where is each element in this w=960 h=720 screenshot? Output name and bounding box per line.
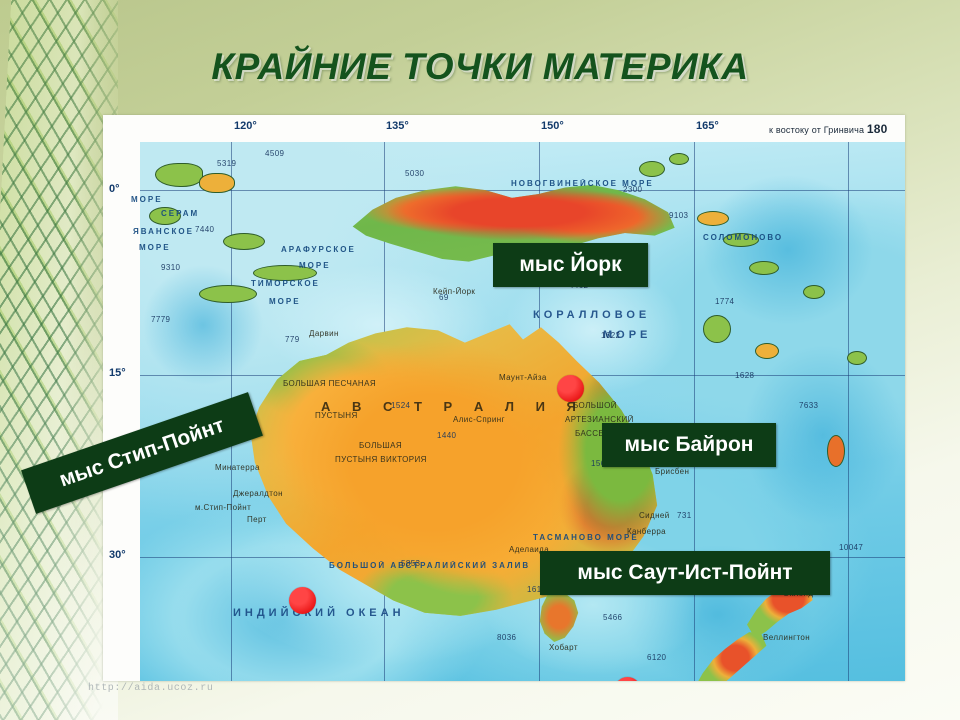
sea-label: КОРАЛЛОВОЕ bbox=[533, 309, 650, 321]
region-label: БОЛЬШОЙ bbox=[573, 401, 617, 410]
sea-label: МОРЕ bbox=[299, 261, 331, 270]
island bbox=[749, 261, 779, 275]
callout-cape-york[interactable]: мыс Йорк bbox=[493, 243, 648, 287]
depth-value: 7440 bbox=[195, 225, 214, 234]
latitude-label: 15° bbox=[109, 367, 126, 379]
sea-label: МОРЕ bbox=[131, 195, 163, 204]
elevation-value: 69 bbox=[439, 293, 449, 302]
elevation-value: 1524 bbox=[391, 401, 410, 410]
elevation-value: 2300 bbox=[623, 185, 642, 194]
callout-cape-south-east-point[interactable]: мыс Саут-Ист-Пойнт bbox=[540, 551, 830, 595]
sea-label: АРАФУРСКОЕ bbox=[281, 245, 356, 254]
source-watermark: http://aida.ucoz.ru bbox=[88, 683, 213, 694]
elevation-value: 5030 bbox=[405, 169, 424, 178]
city-label: Брисбен bbox=[655, 467, 689, 476]
continent-label: А В С Т Р А Л И Я bbox=[321, 399, 585, 414]
depth-value: 7633 bbox=[799, 401, 818, 410]
callout-cape-south-east-point-label: мыс Саут-Ист-Пойнт bbox=[577, 561, 792, 585]
sea-label: ТАСМАНОВО МОРЕ bbox=[533, 533, 639, 542]
depth-value: 5466 bbox=[603, 613, 622, 622]
latitude-label: 30° bbox=[109, 549, 126, 561]
city-label: Маунт-Айза bbox=[499, 373, 547, 382]
marker-cape-york[interactable] bbox=[557, 375, 584, 402]
island bbox=[703, 315, 731, 343]
sea-label: СОЛОМОНОВО bbox=[703, 233, 783, 242]
region-label: БОЛЬШАЯ ПЕСЧАНАЯ bbox=[283, 379, 376, 388]
map-canvas: 120° 135° 150° 165° к востоку от Гринвич… bbox=[103, 115, 905, 681]
city-label: Веллингтон bbox=[763, 633, 810, 642]
depth-value: 7779 bbox=[151, 315, 170, 324]
city-label: Сидней bbox=[639, 511, 670, 520]
decorative-left-border bbox=[0, 0, 118, 720]
cape-label: м.Стип-Пойнт bbox=[195, 503, 251, 512]
page-title: КРАЙНИЕ ТОЧКИ МАТЕРИКА bbox=[0, 46, 960, 88]
elevation-value: 4509 bbox=[265, 149, 284, 158]
sea-label: ЯВАНСКОЕ bbox=[133, 227, 194, 236]
city-label: Дарвин bbox=[309, 329, 339, 338]
island bbox=[755, 343, 779, 359]
sea-label: ИНДИЙСКИЙ ОКЕАН bbox=[233, 607, 405, 619]
parallel-line bbox=[140, 190, 905, 191]
region-label: ПУСТЫНЯ bbox=[315, 411, 358, 420]
region-label: ПУСТЫНЯ ВИКТОРИЯ bbox=[335, 455, 427, 464]
depth-value: 10047 bbox=[839, 543, 863, 552]
greenwich-note-text: к востоку от Гринвича bbox=[769, 125, 864, 135]
island bbox=[199, 173, 235, 193]
sea-label: БОЛЬШОЙ АВСТРАЛИЙСКИЙ ЗАЛИВ bbox=[329, 561, 530, 570]
elevation-value: 1440 bbox=[437, 431, 456, 440]
region-label: БОЛЬШАЯ bbox=[359, 441, 402, 450]
meridian-line bbox=[848, 142, 849, 681]
depth-value: 731 bbox=[677, 511, 692, 520]
island bbox=[847, 351, 867, 365]
city-label: Минатерра bbox=[215, 463, 260, 472]
city-label: Джералдтон bbox=[233, 489, 283, 498]
longitude-label: 120° bbox=[234, 120, 257, 132]
greenwich-note: к востоку от Гринвича 180 bbox=[769, 122, 888, 136]
longitude-label: 150° bbox=[541, 120, 564, 132]
longitude-label: 135° bbox=[386, 120, 409, 132]
elevation-value: 779 bbox=[285, 335, 300, 344]
physical-map-of-australia: 120° 135° 150° 165° к востоку от Гринвич… bbox=[103, 115, 905, 681]
island bbox=[223, 233, 265, 250]
sea-label: СЕРАМ bbox=[161, 209, 199, 218]
island bbox=[669, 153, 689, 165]
elevation-value: 1622 bbox=[601, 331, 620, 340]
depth-value: 6120 bbox=[647, 653, 666, 662]
lattice-pattern bbox=[0, 0, 118, 720]
island bbox=[827, 435, 845, 467]
callout-cape-byron-label: мыс Байрон bbox=[624, 433, 753, 457]
city-label: Хобарт bbox=[549, 643, 578, 652]
island bbox=[639, 161, 665, 177]
sea-label: МОРЕ bbox=[269, 297, 301, 306]
depth-value: 9103 bbox=[669, 211, 688, 220]
meridian-line bbox=[694, 142, 695, 681]
greenwich-note-value: 180 bbox=[867, 122, 888, 136]
marker-cape-steep-point[interactable] bbox=[289, 587, 316, 614]
elevation-value: 5319 bbox=[217, 159, 236, 168]
depth-value: 8036 bbox=[497, 633, 516, 642]
depth-value: 9310 bbox=[161, 263, 180, 272]
city-label: Перт bbox=[247, 515, 267, 524]
city-label: Канберра bbox=[627, 527, 666, 536]
longitude-label: 165° bbox=[696, 120, 719, 132]
depth-value: 1628 bbox=[735, 371, 754, 380]
city-label: Алис-Спринг bbox=[453, 415, 505, 424]
ocean-deep-patch bbox=[143, 265, 263, 385]
border-fade-overlay bbox=[0, 0, 118, 720]
island bbox=[803, 285, 825, 299]
island bbox=[199, 285, 257, 303]
sea-label: ТИМОРСКОЕ bbox=[251, 279, 320, 288]
sea-label: МОРЕ bbox=[139, 243, 171, 252]
depth-value: 1774 bbox=[715, 297, 734, 306]
island bbox=[155, 163, 203, 187]
island bbox=[697, 211, 729, 226]
callout-cape-byron[interactable]: мыс Байрон bbox=[602, 423, 776, 467]
depth-value: 5853 bbox=[401, 559, 420, 568]
callout-cape-york-label: мыс Йорк bbox=[519, 253, 621, 277]
latitude-label: 0° bbox=[109, 183, 120, 195]
